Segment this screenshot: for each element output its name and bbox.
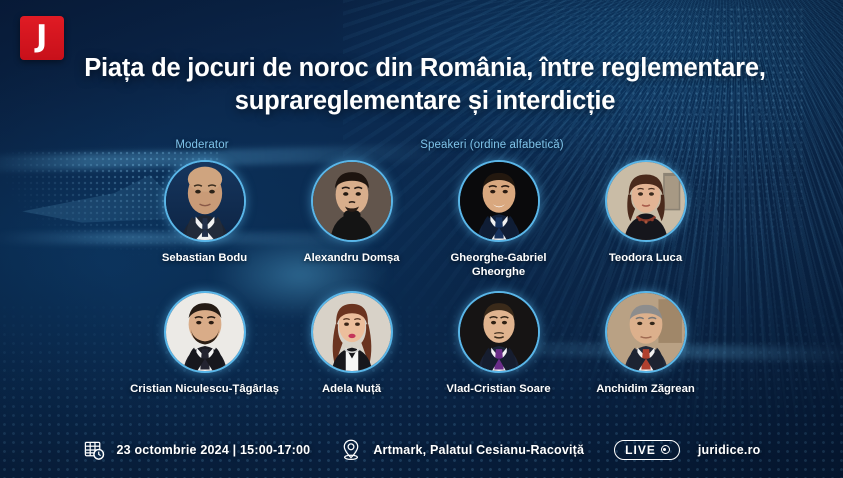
participant-name: Anchidim Zăgrean [571,382,721,396]
participant-card[interactable]: Sebastian Bodu [131,160,278,279]
portrait-vlad-cristian-soare [460,293,538,371]
participants-row-2: Cristian Niculescu-Țâgârlaș [131,291,719,396]
event-location-text: Artmark, Palatul Cesianu-Racoviță [373,443,584,457]
logo-letter: J [36,22,48,52]
portrait-sebastian-bodu [166,162,244,240]
event-poster: J Piața de jocuri de noroc din România, … [0,0,843,478]
participant-card[interactable]: Anchidim Zăgrean [572,291,719,396]
site-url[interactable]: juridice.ro [698,443,761,457]
portrait-adela-nuta [313,293,391,371]
moderator-label: Moderator [175,139,228,151]
participant-card[interactable]: Teodora Luca [572,160,719,279]
participant-name: Alexandru Domșa [277,251,427,265]
event-location-block: Artmark, Palatul Cesianu-Racoviță [340,438,584,462]
portrait-teodora-luca [607,162,685,240]
live-dot-icon [661,445,670,454]
avatar [458,291,540,373]
participant-card[interactable]: Adela Nuță [278,291,425,396]
event-date-text: 23 octombrie 2024 | 15:00-17:00 [117,443,311,457]
speakers-label: Speakeri (ordine alfabetică) [420,139,563,151]
event-footer: 23 octombrie 2024 | 15:00-17:00 Artmark,… [0,438,843,462]
portrait-gheorghe-gabriel-gheorghe [460,162,538,240]
participants-row-1: Sebastian Bodu [131,160,719,279]
live-badge[interactable]: LIVE [614,440,680,460]
participant-name: Sebastian Bodu [130,251,280,265]
portrait-anchidim-zagrean [607,293,685,371]
participant-name: Cristian Niculescu-Țâgârlaș [130,382,280,396]
avatar [605,160,687,242]
participant-name: Adela Nuță [277,382,427,396]
avatar [605,291,687,373]
portrait-alexandru-domsa [313,162,391,240]
portrait-cristian-niculescu-tagarlas [166,293,244,371]
live-label: LIVE [625,443,656,457]
participant-card[interactable]: Gheorghe-Gabriel Gheorghe [425,160,572,279]
avatar [311,160,393,242]
avatar [164,160,246,242]
participant-card[interactable]: Vlad-Cristian Soare [425,291,572,396]
participant-name: Vlad-Cristian Soare [424,382,574,396]
participant-name: Gheorghe-Gabriel Gheorghe [424,251,574,279]
avatar [458,160,540,242]
participants-grid: Sebastian Bodu [131,160,719,396]
participant-name: Teodora Luca [571,251,721,265]
avatar [164,291,246,373]
map-pin-icon [340,438,362,462]
participant-card[interactable]: Alexandru Domșa [278,160,425,279]
avatar [311,291,393,373]
participant-card[interactable]: Cristian Niculescu-Țâgârlaș [131,291,278,396]
event-title: Piața de jocuri de noroc din România, în… [80,52,770,117]
calendar-clock-icon [83,439,106,462]
event-date-block: 23 octombrie 2024 | 15:00-17:00 [83,439,311,462]
juridice-logo[interactable]: J [20,16,64,60]
